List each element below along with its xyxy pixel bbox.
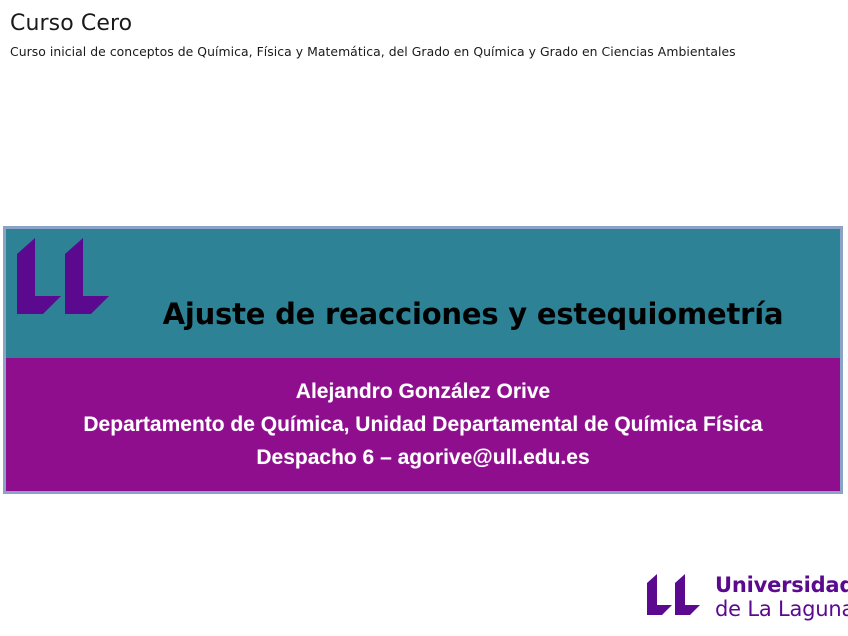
slide-canvas: Curso Cero Curso inicial de conceptos de…	[0, 0, 848, 636]
ull-double-l-mark-icon	[645, 573, 705, 621]
ull-footer-logo: Universidad de La Laguna	[645, 568, 840, 626]
banner-teal-section: Ajuste de reacciones y estequiometría	[6, 229, 840, 358]
author-office-email: Despacho 6 – agorive@ull.edu.es	[256, 441, 589, 474]
slide-header: Curso Cero Curso inicial de conceptos de…	[10, 10, 810, 62]
ull-wordmark-line-1: Universidad	[715, 573, 848, 597]
page-subtitle: Curso inicial de conceptos de Química, F…	[10, 42, 800, 62]
page-title: Curso Cero	[10, 10, 810, 38]
title-banner: Ajuste de reacciones y estequiometría Al…	[3, 226, 843, 494]
banner-author-section: Alejandro González Orive Departamento de…	[6, 358, 840, 491]
ull-wordmark: Universidad de La Laguna	[715, 573, 848, 621]
author-department: Departamento de Química, Unidad Departam…	[83, 408, 762, 441]
banner-title: Ajuste de reacciones y estequiometría	[6, 297, 840, 331]
author-name: Alejandro González Orive	[296, 375, 550, 408]
ull-wordmark-line-2: de La Laguna	[715, 597, 848, 621]
